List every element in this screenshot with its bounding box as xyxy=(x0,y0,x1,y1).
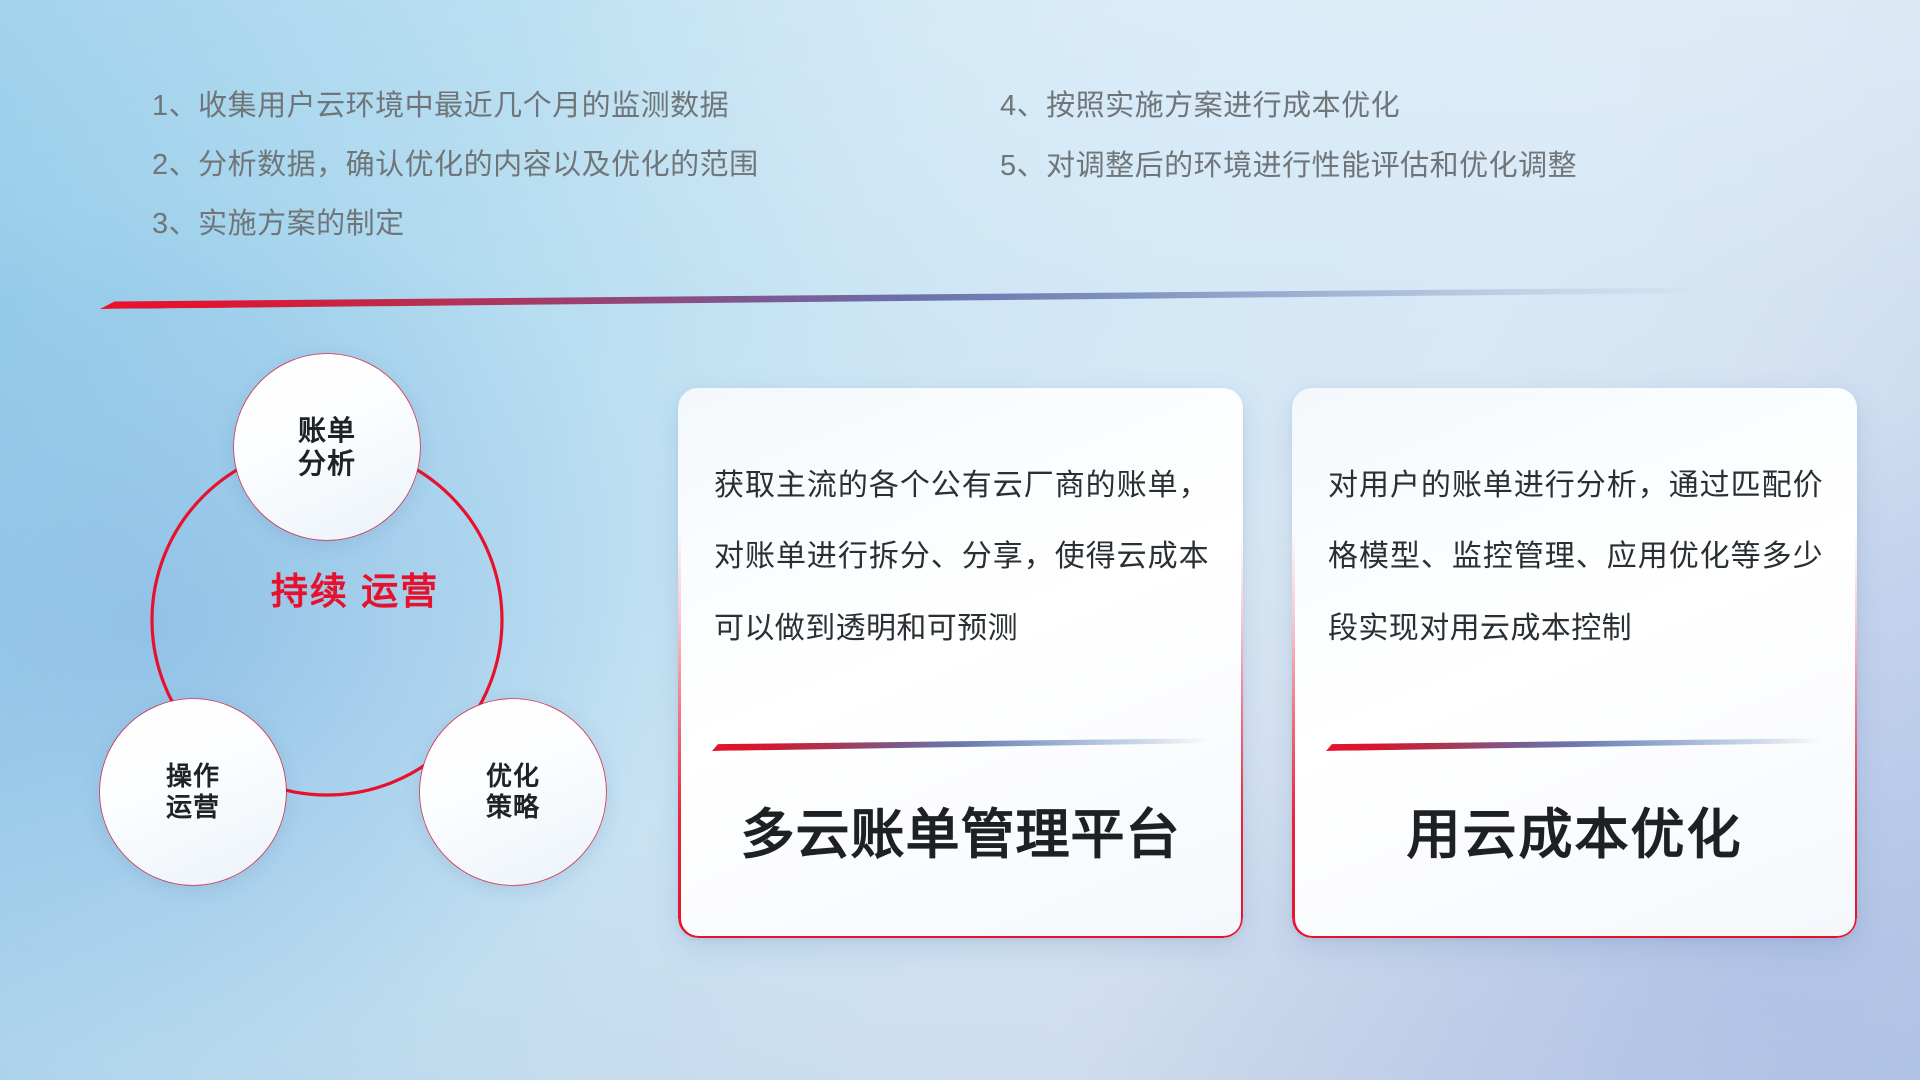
steps-right-column: 4、按照实施方案进行成本优化 5、对调整后的环境进行性能评估和优化调整 xyxy=(1000,92,1577,212)
section-divider xyxy=(100,287,1705,309)
card-title: 用云成本优化 xyxy=(1292,806,1857,865)
step-item: 1、收集用户云环境中最近几个月的监测数据 xyxy=(152,92,759,121)
card-divider xyxy=(712,738,1208,751)
node-label-line2: 分析 xyxy=(298,447,356,480)
diagram-center-label: 持续 运营 xyxy=(255,570,455,614)
step-item: 3、实施方案的制定 xyxy=(152,210,759,239)
center-label-line2: 运营 xyxy=(361,571,439,612)
divider-bar xyxy=(100,287,1705,309)
node-label-line1: 账单 xyxy=(298,414,356,447)
card-cost-optimization[interactable]: 对用户的账单进行分析，通过匹配价格模型、监控管理、应用优化等多少段实现对用云成本… xyxy=(1292,388,1857,938)
node-label-line1: 优化 xyxy=(486,761,540,792)
card-description: 获取主流的各个公有云厂商的账单，对账单进行拆分、分享，使得云成本可以做到透明和可… xyxy=(714,450,1209,664)
node-label-line2: 运营 xyxy=(166,792,220,823)
card-divider xyxy=(1326,738,1822,751)
divider-bar xyxy=(712,738,1208,751)
step-item: 5、对调整后的环境进行性能评估和优化调整 xyxy=(1000,152,1577,181)
node-label-line2: 策略 xyxy=(486,792,540,823)
divider-bar xyxy=(1326,738,1822,751)
diagram-node-optimization-strategy[interactable]: 优化 策略 xyxy=(420,699,606,885)
card-description: 对用户的账单进行分析，通过匹配价格模型、监控管理、应用优化等多少段实现对用云成本… xyxy=(1328,450,1823,664)
diagram-node-operations[interactable]: 操作 运营 xyxy=(100,699,286,885)
diagram-node-billing-analysis[interactable]: 账单 分析 xyxy=(234,354,420,540)
card-title: 多云账单管理平台 xyxy=(678,806,1243,865)
card-billing-platform[interactable]: 获取主流的各个公有云厂商的账单，对账单进行拆分、分享，使得云成本可以做到透明和可… xyxy=(678,388,1243,938)
step-item: 2、分析数据，确认优化的内容以及优化的范围 xyxy=(152,151,759,180)
center-label-line1: 持续 xyxy=(271,571,349,612)
steps-left-column: 1、收集用户云环境中最近几个月的监测数据 2、分析数据，确认优化的内容以及优化的… xyxy=(152,92,759,269)
slide-canvas: 1、收集用户云环境中最近几个月的监测数据 2、分析数据，确认优化的内容以及优化的… xyxy=(0,0,1920,1080)
step-item: 4、按照实施方案进行成本优化 xyxy=(1000,92,1577,121)
continuous-operation-diagram: 账单 分析 操作 运营 优化 策略 持续 运营 xyxy=(96,352,656,952)
node-label-line1: 操作 xyxy=(166,761,220,792)
